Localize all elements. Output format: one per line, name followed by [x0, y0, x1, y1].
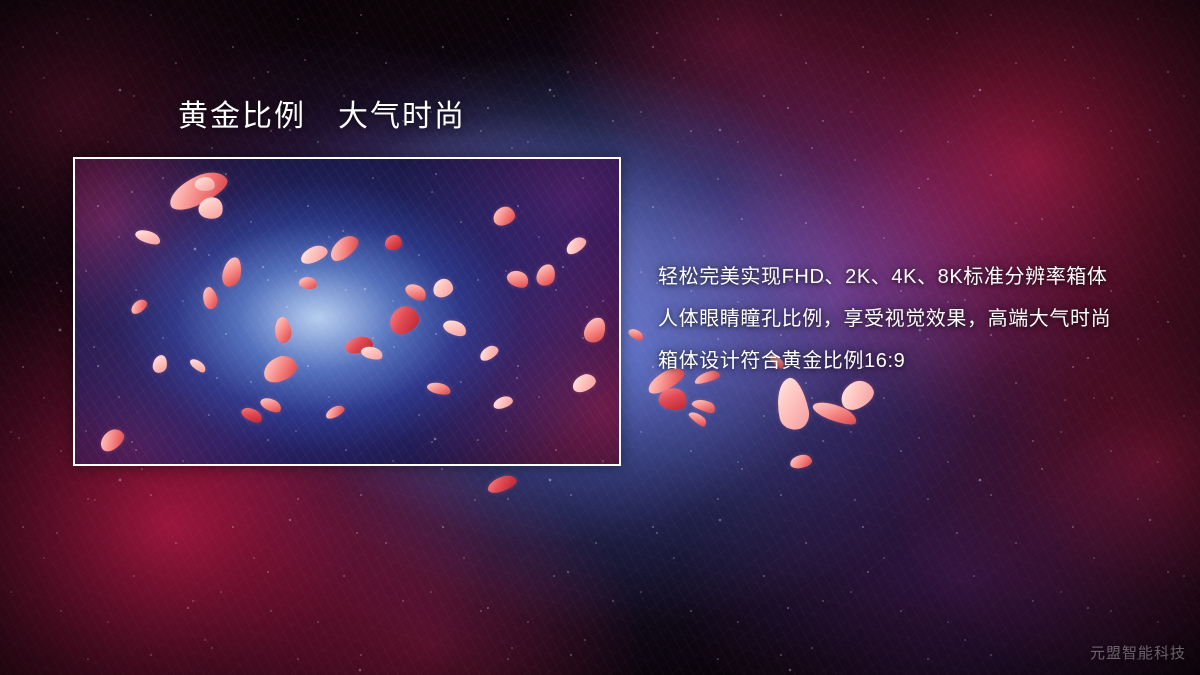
petal-decoration [688, 408, 709, 428]
petal-decoration [486, 473, 519, 496]
petal-decoration [627, 326, 645, 342]
petal-decoration [657, 385, 690, 414]
body-copy-line-3: 箱体设计符合黄金比例16:9 [658, 340, 1178, 382]
petal-decoration [691, 396, 717, 416]
presentation-slide: 黄金比例 大气时尚 [0, 0, 1200, 675]
image-panel [75, 159, 619, 464]
watermark-brand: 元盟智能科技 [1090, 642, 1186, 663]
petal-decoration [772, 375, 812, 432]
body-copy-line-1: 轻松完美实现FHD、2K、4K、8K标准分辨率箱体 [658, 256, 1178, 298]
petal-decoration [811, 397, 860, 429]
panel-filaments [75, 159, 619, 464]
body-copy-line-2: 人体眼睛瞳孔比例，享受视觉效果，高端大气时尚 [658, 298, 1178, 340]
image-panel-frame [73, 157, 621, 466]
body-copy-block: 轻松完美实现FHD、2K、4K、8K标准分辨率箱体 人体眼睛瞳孔比例，享受视觉效… [658, 256, 1178, 382]
slide-title: 黄金比例 大气时尚 [178, 99, 466, 135]
petal-decoration [789, 454, 813, 470]
